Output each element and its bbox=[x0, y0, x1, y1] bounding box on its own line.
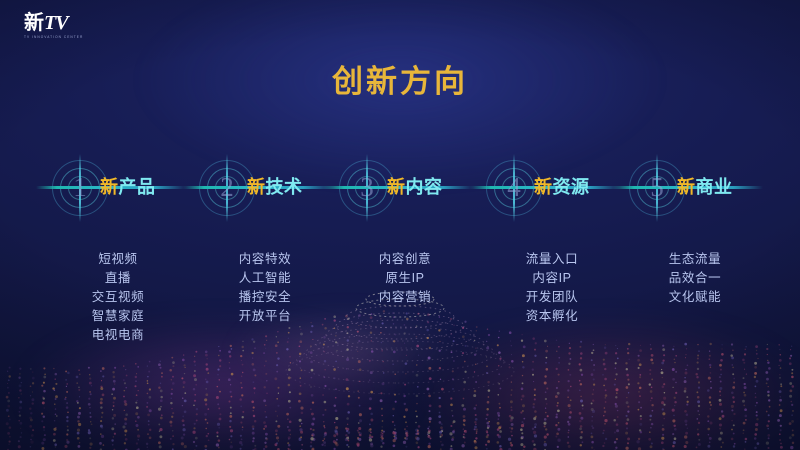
slide-canvas: 新TV TV INNOVATION CENTER 创新方向 1 新产品 短视频 … bbox=[0, 0, 800, 450]
list-item: 开发团队 bbox=[472, 288, 632, 307]
direction-columns: 1 新产品 短视频 直播 交互视频 智慧家庭 电视电商 2 新技术 bbox=[0, 158, 800, 358]
list-item: 人工智能 bbox=[185, 269, 345, 288]
list-item: 智慧家庭 bbox=[38, 307, 198, 326]
column-item-list: 流量入口 内容IP 开发团队 资本孵化 bbox=[472, 250, 632, 326]
list-item: 内容营销 bbox=[325, 288, 485, 307]
list-item: 原生IP bbox=[325, 269, 485, 288]
column-header: 3 新内容 bbox=[325, 158, 485, 220]
column-label: 新内容 bbox=[387, 174, 443, 200]
column-label: 新产品 bbox=[100, 174, 156, 200]
list-item: 内容特效 bbox=[185, 250, 345, 269]
brand-logo: 新TV TV INNOVATION CENTER bbox=[24, 12, 98, 46]
logo-mark: 新TV bbox=[24, 12, 98, 34]
direction-column-5[interactable]: 5 新商业 生态流量 品效合一 文化赋能 bbox=[615, 158, 775, 220]
list-item: 交互视频 bbox=[38, 288, 198, 307]
list-item: 直播 bbox=[38, 269, 198, 288]
logo-mark-cn: 新 bbox=[24, 12, 44, 34]
logo-mark-tv: TV bbox=[44, 12, 68, 34]
column-item-list: 内容创意 原生IP 内容营销 bbox=[325, 250, 485, 307]
page-title: 创新方向 bbox=[0, 63, 800, 101]
list-item: 文化赋能 bbox=[615, 288, 775, 307]
direction-column-4[interactable]: 4 新资源 流量入口 内容IP 开发团队 资本孵化 bbox=[472, 158, 632, 220]
column-item-list: 短视频 直播 交互视频 智慧家庭 电视电商 bbox=[38, 250, 198, 345]
list-item: 电视电商 bbox=[38, 326, 198, 345]
direction-column-3[interactable]: 3 新内容 内容创意 原生IP 内容营销 bbox=[325, 158, 485, 220]
list-item: 开放平台 bbox=[185, 307, 345, 326]
list-item: 品效合一 bbox=[615, 269, 775, 288]
list-item: 播控安全 bbox=[185, 288, 345, 307]
direction-column-2[interactable]: 2 新技术 内容特效 人工智能 播控安全 开放平台 bbox=[185, 158, 345, 220]
list-item: 短视频 bbox=[38, 250, 198, 269]
direction-column-1[interactable]: 1 新产品 短视频 直播 交互视频 智慧家庭 电视电商 bbox=[38, 158, 198, 220]
column-item-list: 生态流量 品效合一 文化赋能 bbox=[615, 250, 775, 307]
column-header: 1 新产品 bbox=[38, 158, 198, 220]
column-item-list: 内容特效 人工智能 播控安全 开放平台 bbox=[185, 250, 345, 326]
list-item: 内容创意 bbox=[325, 250, 485, 269]
column-label: 新技术 bbox=[247, 174, 303, 200]
list-item: 生态流量 bbox=[615, 250, 775, 269]
column-header: 2 新技术 bbox=[185, 158, 345, 220]
column-label: 新资源 bbox=[534, 174, 590, 200]
list-item: 流量入口 bbox=[472, 250, 632, 269]
column-header: 4 新资源 bbox=[472, 158, 632, 220]
column-header: 5 新商业 bbox=[615, 158, 775, 220]
logo-subtitle: TV INNOVATION CENTER bbox=[24, 35, 98, 39]
list-item: 内容IP bbox=[472, 269, 632, 288]
column-label: 新商业 bbox=[677, 174, 733, 200]
list-item: 资本孵化 bbox=[472, 307, 632, 326]
